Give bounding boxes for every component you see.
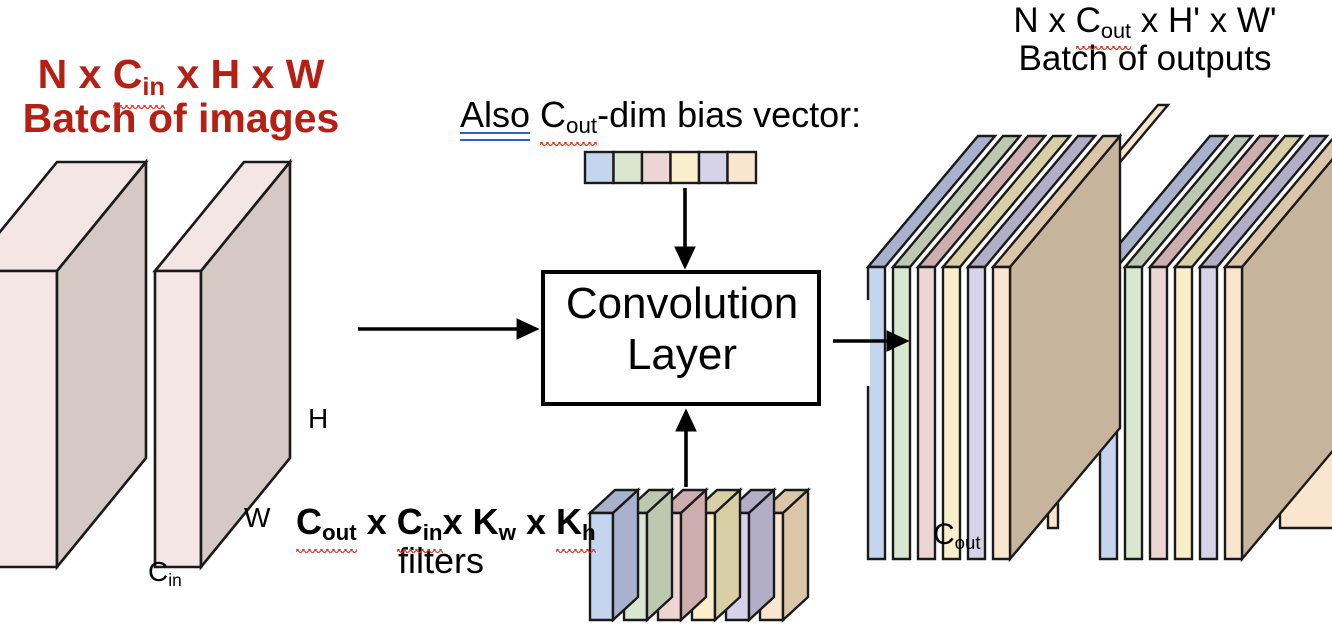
width-axis-label: W: [244, 503, 270, 533]
output-tensor-caption: Batch of outputs: [958, 40, 1332, 78]
output-tensor-shape: N x Cout x H' x W': [958, 2, 1332, 40]
channels-in-axis-label: Cin: [148, 557, 182, 587]
bias-vector-label: Also Cout-dim bias vector:: [460, 96, 861, 135]
channels-out-axis-label: Cout: [933, 519, 981, 551]
filters-shape: Cout x Cinx Kw x Kh: [296, 503, 586, 542]
input-slab-1: [0, 162, 146, 567]
input-tensor-shape: N x Cin x H x W: [18, 52, 344, 96]
bias-vector: [585, 152, 756, 183]
output-stack-group-1: [868, 105, 1168, 559]
height-axis-label: H: [308, 404, 328, 434]
filter-stack: [590, 490, 808, 620]
filter-slab-blue: [590, 490, 638, 620]
output-stack-group-2: [1100, 105, 1332, 559]
output-tensor-label: N x Cout x H' x W' Batch of outputs: [958, 2, 1332, 78]
input-tensor-caption: Batch of images: [18, 96, 344, 140]
convolution-line-1: Convolution: [546, 278, 818, 329]
bias-also-word: Also: [460, 96, 530, 135]
diagram-canvas: N x Cin x H x W Batch of images N x Cout…: [0, 0, 1332, 626]
input-tensor-label: N x Cin x H x W Batch of images: [18, 52, 344, 141]
convolution-line-2: Layer: [546, 329, 818, 380]
convolution-layer-text: Convolution Layer: [546, 278, 818, 380]
filters-label: Cout x Cinx Kw x Kh filters: [296, 503, 586, 581]
